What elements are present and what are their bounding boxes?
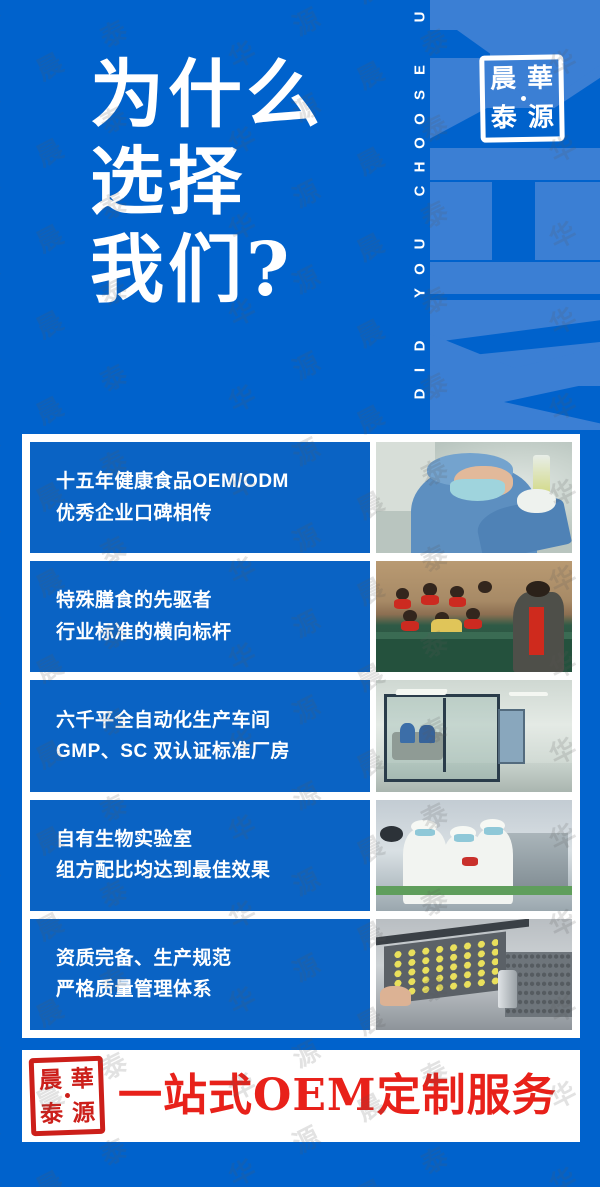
vertical-caption-letter: S bbox=[413, 86, 428, 102]
packaging-line-photo bbox=[376, 800, 572, 911]
seal-char-3: 源 bbox=[522, 98, 560, 137]
seal-char-2: 晨 bbox=[34, 1062, 67, 1097]
vertical-caption-letter: C bbox=[413, 183, 428, 199]
vertical-caption-letter: Y bbox=[413, 284, 428, 300]
vertical-caption-letter bbox=[413, 311, 428, 327]
feature-cards-list: 十五年健康食品OEM/ODM 优秀企业口碑相传 特殊膳食的先驱者 行业标准的横向… bbox=[30, 442, 572, 1030]
vertical-caption-letter: O bbox=[413, 134, 428, 150]
feature-cards-frame: 十五年健康食品OEM/ODM 优秀企业口碑相传 特殊膳食的先驱者 行业标准的横向… bbox=[22, 434, 580, 1038]
vertical-caption-letter: I bbox=[413, 362, 428, 378]
headline-line-1: 为什么 bbox=[90, 52, 390, 139]
feature-card: 六千平全自动化生产车间 GMP、SC 双认证标准厂房 bbox=[30, 680, 572, 791]
feature-line-2: GMP、SC 双认证标准厂房 bbox=[56, 736, 370, 767]
feature-card: 十五年健康食品OEM/ODM 优秀企业口碑相传 bbox=[30, 442, 572, 553]
vertical-caption-letter: O bbox=[413, 260, 428, 276]
bottom-banner: 華 晨 源 泰 一站式OEM定制服务 bbox=[22, 1050, 580, 1142]
feature-line-2: 优秀企业口碑相传 bbox=[56, 498, 370, 529]
feature-card-text: 资质完备、生产规范 严格质量管理体系 bbox=[30, 919, 370, 1030]
conference-audience-photo bbox=[376, 561, 572, 672]
feature-card: 特殊膳食的先驱者 行业标准的横向标杆 bbox=[30, 561, 572, 672]
seal-char-1: 華 bbox=[66, 1061, 99, 1096]
feature-card-text: 特殊膳食的先驱者 行业标准的横向标杆 bbox=[30, 561, 370, 672]
vertical-caption-letter: H bbox=[413, 159, 428, 175]
watermark-row: 华源晨泰 华源晨泰 华源晨泰 华源晨泰 华源晨泰 华源晨泰 华源晨泰 bbox=[0, 1174, 600, 1187]
vertical-caption-letter bbox=[413, 209, 428, 225]
vertical-caption-letter: D bbox=[413, 386, 428, 402]
vertical-caption-letter: E bbox=[413, 62, 428, 78]
feature-line-2: 严格质量管理体系 bbox=[56, 974, 370, 1005]
feature-line-2: 组方配比均达到最佳效果 bbox=[56, 855, 370, 886]
poster-root: DID YOU CHOOSE US 華 晨 源 泰 为什么 选择 我们? 十五年… bbox=[0, 0, 600, 1187]
headline-line-3: 我们? bbox=[90, 227, 390, 314]
seal-char-3: 源 bbox=[67, 1095, 100, 1130]
company-seal-white: 華 晨 源 泰 bbox=[479, 54, 565, 142]
company-seal-red: 華 晨 源 泰 bbox=[29, 1056, 106, 1137]
tablet-press-photo bbox=[376, 919, 572, 1030]
seal-char-1: 華 bbox=[521, 59, 559, 98]
lab-technician-photo bbox=[376, 442, 572, 553]
headline-line-2: 选择 bbox=[90, 139, 390, 226]
feature-card: 自有生物实验室 组方配比均达到最佳效果 bbox=[30, 800, 572, 911]
feature-line-2: 行业标准的横向标杆 bbox=[56, 617, 370, 648]
vertical-caption-letter: U bbox=[413, 236, 428, 252]
banner-slogan: 一站式OEM定制服务 bbox=[118, 1074, 557, 1118]
feature-line-1: 资质完备、生产规范 bbox=[56, 943, 370, 974]
feature-card-text: 自有生物实验室 组方配比均达到最佳效果 bbox=[30, 800, 370, 911]
feature-card-text: 十五年健康食品OEM/ODM 优秀企业口碑相传 bbox=[30, 442, 370, 553]
feature-line-1: 十五年健康食品OEM/ODM bbox=[56, 466, 370, 497]
feature-card-text: 六千平全自动化生产车间 GMP、SC 双认证标准厂房 bbox=[30, 680, 370, 791]
seal-char-4: 泰 bbox=[35, 1096, 68, 1131]
seal-char-2: 晨 bbox=[484, 60, 522, 99]
clean-workshop-photo bbox=[376, 680, 572, 791]
feature-line-1: 自有生物实验室 bbox=[56, 824, 370, 855]
vertical-caption-letter bbox=[413, 35, 428, 51]
vertical-caption-letter: D bbox=[413, 338, 428, 354]
vertical-caption-letter: U bbox=[413, 9, 428, 25]
feature-card: 资质完备、生产规范 严格质量管理体系 bbox=[30, 919, 572, 1030]
vertical-caption: DID YOU CHOOSE US bbox=[402, 14, 438, 406]
feature-line-1: 六千平全自动化生产车间 bbox=[56, 705, 370, 736]
page-title: 为什么 选择 我们? bbox=[90, 52, 390, 314]
seal-char-4: 泰 bbox=[485, 99, 523, 138]
feature-line-1: 特殊膳食的先驱者 bbox=[56, 585, 370, 616]
vertical-caption-letter: O bbox=[413, 110, 428, 126]
